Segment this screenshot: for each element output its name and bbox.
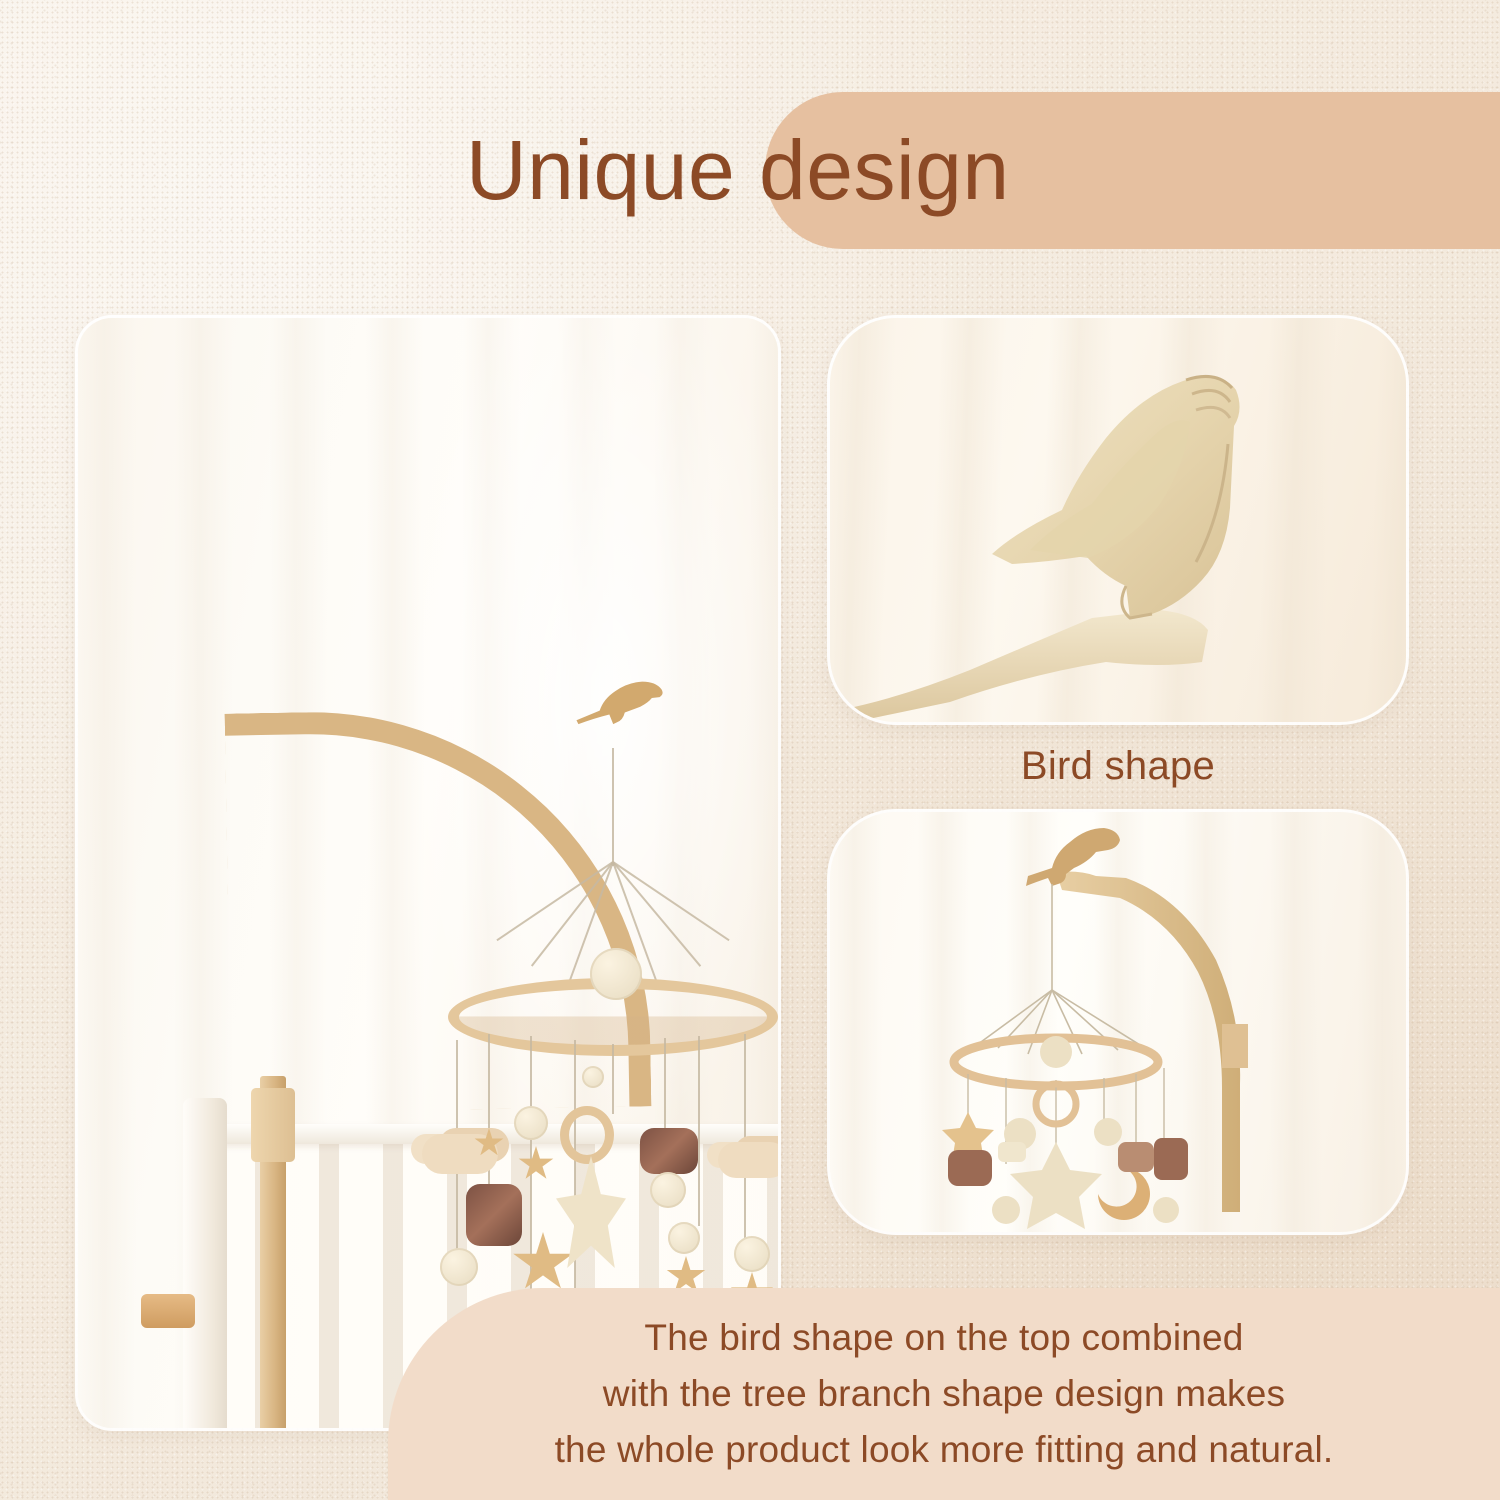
dark-wood-flower-ornament [640, 1128, 698, 1174]
page-title: Unique design [466, 115, 1010, 225]
dark-wood-flower-ornament [466, 1184, 522, 1246]
bird-closeup-photo-card[interactable] [830, 318, 1406, 722]
crochet-ball [650, 1172, 686, 1208]
cloud-ornament [718, 1142, 778, 1178]
description-panel: The bird shape on the top combined with … [388, 1288, 1500, 1500]
main-product-photo-card[interactable] [78, 318, 778, 1428]
nursery-scene [78, 318, 778, 1428]
mobile-arm-clamp [251, 1088, 295, 1162]
bird-closeup-scene [830, 318, 1406, 722]
crochet-ball [440, 1248, 478, 1286]
bird-shape-caption: Bird shape [830, 744, 1406, 789]
description-line-2: with the tree branch shape design makes [388, 1366, 1500, 1422]
description-text: The bird shape on the top combined with … [388, 1310, 1500, 1478]
crochet-ball [590, 948, 642, 1000]
description-line-3: the whole product look more fitting and … [388, 1422, 1500, 1478]
crochet-ball [514, 1106, 548, 1140]
crochet-ball [734, 1236, 770, 1272]
full-product-scene [830, 812, 1406, 1232]
wood-bead [582, 1066, 604, 1088]
crochet-ball [668, 1222, 700, 1254]
wooden-knob [141, 1294, 195, 1328]
star-ornament [512, 1232, 574, 1294]
description-line-1: The bird shape on the top combined [388, 1310, 1500, 1366]
carved-wooden-bird-illustration [830, 318, 1406, 722]
crochet-star-ornament [556, 1156, 626, 1268]
wooden-bird-icon [570, 670, 668, 728]
crib-corner-post [183, 1098, 227, 1428]
full-mobile-illustration [830, 812, 1406, 1232]
full-product-photo-card[interactable] [830, 812, 1406, 1232]
star-ornament [518, 1146, 554, 1182]
teething-ring [560, 1106, 614, 1164]
